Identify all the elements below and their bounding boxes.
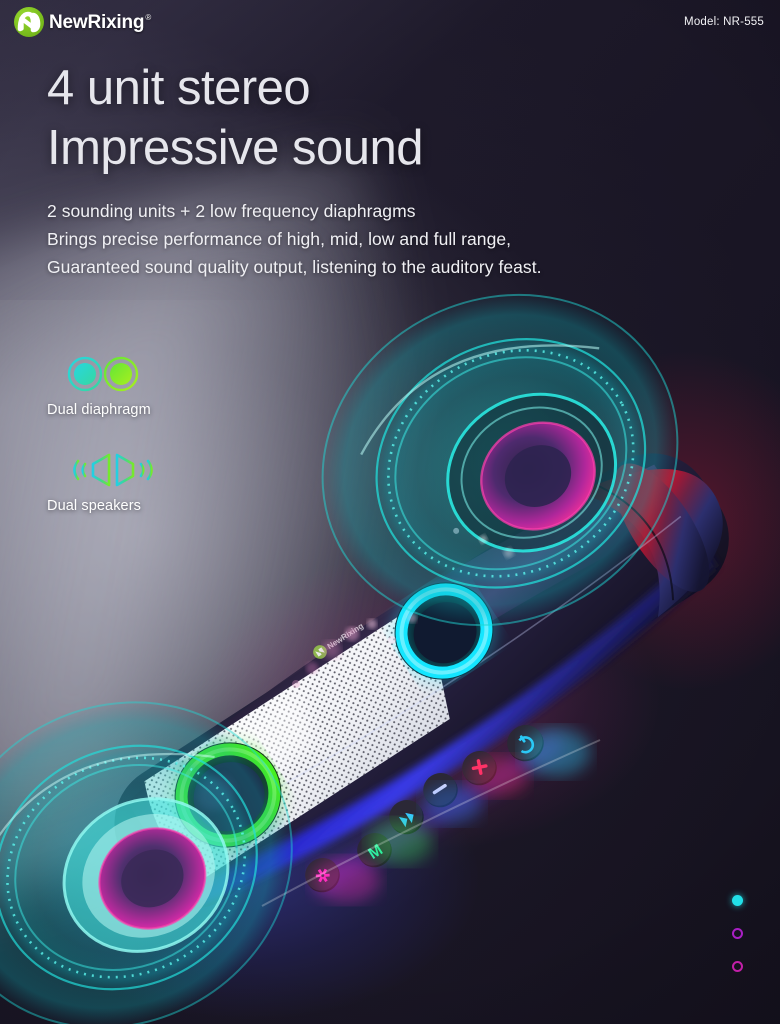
brand-trademark: ® — [145, 13, 151, 22]
pagination-dot-2[interactable] — [732, 928, 743, 939]
dual-speakers-icon — [47, 448, 161, 492]
headline-line-1: 4 unit stereo — [47, 58, 542, 118]
dual-diaphragm-icon — [47, 352, 161, 396]
feature-dual-diaphragm-label: Dual diaphragm — [47, 402, 161, 418]
newrixing-logo-icon — [14, 7, 44, 37]
subcopy-line-1: 2 sounding units + 2 low frequency diaph… — [47, 197, 542, 225]
product-marketing-page: NewRixing — [0, 0, 780, 1024]
pagination-dot-1[interactable] — [732, 895, 743, 906]
brand-name-text: NewRixing — [49, 12, 144, 33]
brand-logo: NewRixing® — [14, 7, 151, 37]
model-label: Model: NR-555 — [684, 16, 764, 28]
pagination-dot-3[interactable] — [732, 961, 743, 972]
copy-block: 4 unit stereo Impressive sound 2 soundin… — [47, 58, 542, 281]
subcopy-line-3: Guaranteed sound quality output, listeni… — [47, 253, 542, 281]
feature-dual-speakers-label: Dual speakers — [47, 498, 161, 514]
brand-name: NewRixing® — [49, 13, 151, 32]
headline-line-2: Impressive sound — [47, 118, 542, 178]
subcopy-block: 2 sounding units + 2 low frequency diaph… — [47, 197, 542, 281]
subcopy-line-2: Brings precise performance of high, mid,… — [47, 225, 542, 253]
page-header: NewRixing® Model: NR-555 — [0, 0, 780, 44]
feature-list: Dual diaphragm — [47, 352, 161, 544]
feature-dual-diaphragm: Dual diaphragm — [47, 352, 161, 418]
pagination-dots[interactable] — [732, 895, 743, 972]
feature-dual-speakers: Dual speakers — [47, 448, 161, 514]
